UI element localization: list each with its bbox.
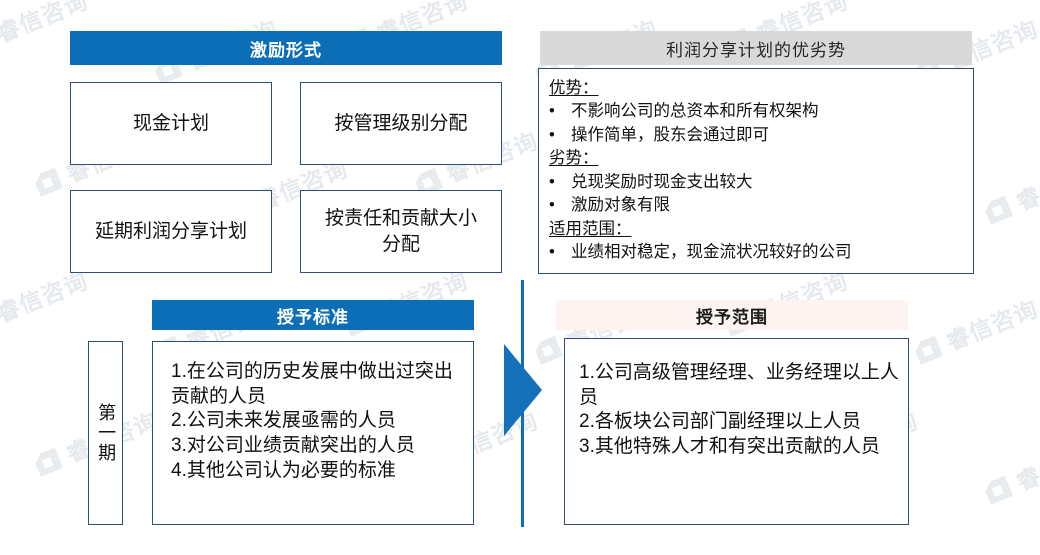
pros-cons-title-bar: 利润分享计划的优劣势 bbox=[540, 31, 972, 65]
slide-canvas: 睿信咨询睿信咨询睿信咨询睿信咨询睿信咨询睿信咨询睿信咨询睿信咨询睿信咨询睿信咨询… bbox=[0, 0, 1040, 555]
incentive-box-by-responsibility-contribution[interactable]: 按责任和贡献大小分配 bbox=[300, 190, 502, 273]
grant-scope-item: 2.各板块公司部门副经理以上人员 bbox=[579, 410, 900, 435]
grant-scope-item: 1.公司高级管理经理、业务经理以上人员 bbox=[579, 361, 900, 410]
bullet-icon: • bbox=[549, 194, 571, 217]
bullet-text: 业绩相对稳定，现金流状况较好的公司 bbox=[571, 241, 963, 264]
watermark: 睿信咨询 bbox=[0, 262, 92, 342]
pros-cons-bullet-item: • 兑现奖励时现金支出较大 bbox=[549, 171, 963, 194]
pros-cons-bullet-item: • 操作简单，股东会通过即可 bbox=[549, 124, 963, 147]
pros-cons-content-box: 优势： • 不影响公司的总资本和所有权架构 • 操作简单，股东会通过即可 劣势：… bbox=[538, 68, 974, 274]
pros-cons-bullet-item: • 激励对象有限 bbox=[549, 194, 963, 217]
pros-cons-heading: 优势： bbox=[549, 77, 599, 100]
bullet-text: 激励对象有限 bbox=[571, 194, 963, 217]
incentive-box-label: 按管理级别分配 bbox=[334, 111, 467, 137]
grant-scope-title-bar: 授予范围 bbox=[556, 300, 908, 330]
incentive-box-cash-plan[interactable]: 现金计划 bbox=[70, 82, 272, 165]
incentive-box-label: 延期利润分享计划 bbox=[95, 219, 247, 245]
incentive-forms-title: 激励形式 bbox=[250, 36, 322, 61]
logo-mark-icon bbox=[31, 164, 65, 198]
incentive-box-label: 现金计划 bbox=[133, 111, 209, 137]
bullet-icon: • bbox=[549, 241, 571, 264]
watermark-text: 睿信咨询 bbox=[1011, 430, 1040, 497]
logo-mark-icon bbox=[981, 192, 1015, 226]
pros-cons-bullet-item: • 业绩相对稳定，现金流状况较好的公司 bbox=[549, 241, 963, 264]
bullet-text: 不影响公司的总资本和所有权架构 bbox=[571, 100, 963, 123]
phase-label: 第一期 bbox=[95, 403, 116, 463]
logo-mark-icon bbox=[531, 332, 565, 366]
logo-mark-icon bbox=[31, 444, 65, 478]
incentive-box-by-management-level[interactable]: 按管理级别分配 bbox=[300, 82, 502, 165]
pros-cons-heading: 适用范围： bbox=[549, 218, 632, 241]
watermark-text: 睿信咨询 bbox=[1011, 150, 1040, 217]
grant-criteria-item: 4.其他公司认为必要的标准 bbox=[171, 459, 465, 484]
grant-criteria-item: 1.在公司的历史发展中做出过突出贡献的人员 bbox=[171, 360, 465, 409]
grant-scope-title: 授予范围 bbox=[696, 303, 768, 328]
pros-cons-title: 利润分享计划的优劣势 bbox=[666, 36, 846, 61]
bullet-text: 操作简单，股东会通过即可 bbox=[571, 124, 963, 147]
grant-scope-content-box: 1.公司高级管理经理、业务经理以上人员 2.各板块公司部门副经理以上人员 3.其… bbox=[564, 338, 909, 525]
bullet-icon: • bbox=[549, 171, 571, 194]
grant-criteria-title: 授予标准 bbox=[277, 303, 349, 328]
bullet-text: 兑现奖励时现金支出较大 bbox=[571, 171, 963, 194]
grant-criteria-item: 2.公司未来发展亟需的人员 bbox=[171, 409, 465, 434]
logo-mark-icon bbox=[981, 472, 1015, 506]
watermark-text: 睿信咨询 bbox=[941, 290, 1040, 357]
watermark: 睿信咨询 bbox=[980, 430, 1040, 510]
grant-criteria-item: 3.对公司业绩贡献突出的人员 bbox=[171, 434, 465, 459]
phase-label-box: 第一期 bbox=[88, 341, 123, 525]
logo-mark-icon bbox=[911, 332, 945, 366]
grant-scope-item: 3.其他特殊人才和有突出贡献的人员 bbox=[579, 435, 900, 460]
grant-criteria-content-box: 1.在公司的历史发展中做出过突出贡献的人员 2.公司未来发展亟需的人员 3.对公… bbox=[152, 341, 474, 525]
pros-cons-heading: 劣势： bbox=[549, 147, 599, 170]
watermark: 睿信咨询 bbox=[980, 150, 1040, 230]
pros-cons-bullet-item: • 不影响公司的总资本和所有权架构 bbox=[549, 100, 963, 123]
bullet-icon: • bbox=[549, 124, 571, 147]
watermark: 睿信咨询 bbox=[910, 290, 1040, 370]
incentive-box-label: 按责任和贡献大小分配 bbox=[321, 206, 481, 257]
bullet-icon: • bbox=[549, 100, 571, 123]
incentive-forms-title-bar: 激励形式 bbox=[70, 31, 502, 65]
grant-criteria-title-bar: 授予标准 bbox=[152, 300, 474, 330]
incentive-box-deferred-profit-sharing[interactable]: 延期利润分享计划 bbox=[70, 190, 272, 273]
